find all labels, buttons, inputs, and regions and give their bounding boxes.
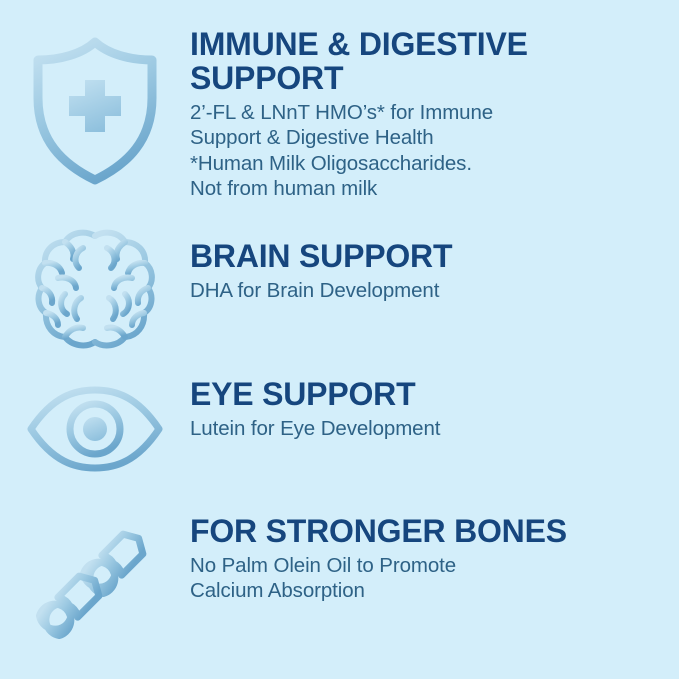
- benefit-description: No Palm Olein Oil to Promote Calcium Abs…: [190, 553, 679, 604]
- eye-icon: [25, 384, 165, 474]
- brain-icon: [31, 226, 159, 354]
- benefit-item-immune-digestive: IMMUNE & DIGESTIVE SUPPORT 2’-FL & LNnT …: [0, 28, 679, 201]
- benefit-item-bones: FOR STRONGER BONES No Palm Olein Oil to …: [0, 515, 679, 642]
- benefit-description: 2’-FL & LNnT HMO’s* for Immune Support &…: [190, 100, 679, 202]
- bones-icon: [28, 517, 163, 642]
- benefit-item-eye: EYE SUPPORT Lutein for Eye Development: [0, 378, 679, 474]
- benefit-title: IMMUNE & DIGESTIVE SUPPORT: [190, 28, 679, 96]
- icon-cell: [0, 515, 190, 642]
- benefit-title: BRAIN SUPPORT: [190, 240, 679, 274]
- text-cell: BRAIN SUPPORT DHA for Brain Development: [190, 240, 679, 303]
- benefit-item-brain: BRAIN SUPPORT DHA for Brain Development: [0, 240, 679, 354]
- benefit-title: EYE SUPPORT: [190, 378, 679, 412]
- benefit-description: Lutein for Eye Development: [190, 416, 679, 441]
- icon-cell: [0, 28, 190, 186]
- benefit-title: FOR STRONGER BONES: [190, 515, 679, 549]
- icon-cell: [0, 226, 190, 354]
- icon-cell: [0, 378, 190, 474]
- text-cell: EYE SUPPORT Lutein for Eye Development: [190, 378, 679, 441]
- benefits-panel: IMMUNE & DIGESTIVE SUPPORT 2’-FL & LNnT …: [0, 0, 679, 679]
- text-cell: IMMUNE & DIGESTIVE SUPPORT 2’-FL & LNnT …: [190, 28, 679, 201]
- benefit-description: DHA for Brain Development: [190, 278, 679, 303]
- text-cell: FOR STRONGER BONES No Palm Olein Oil to …: [190, 515, 679, 604]
- shield-cross-icon: [30, 36, 160, 186]
